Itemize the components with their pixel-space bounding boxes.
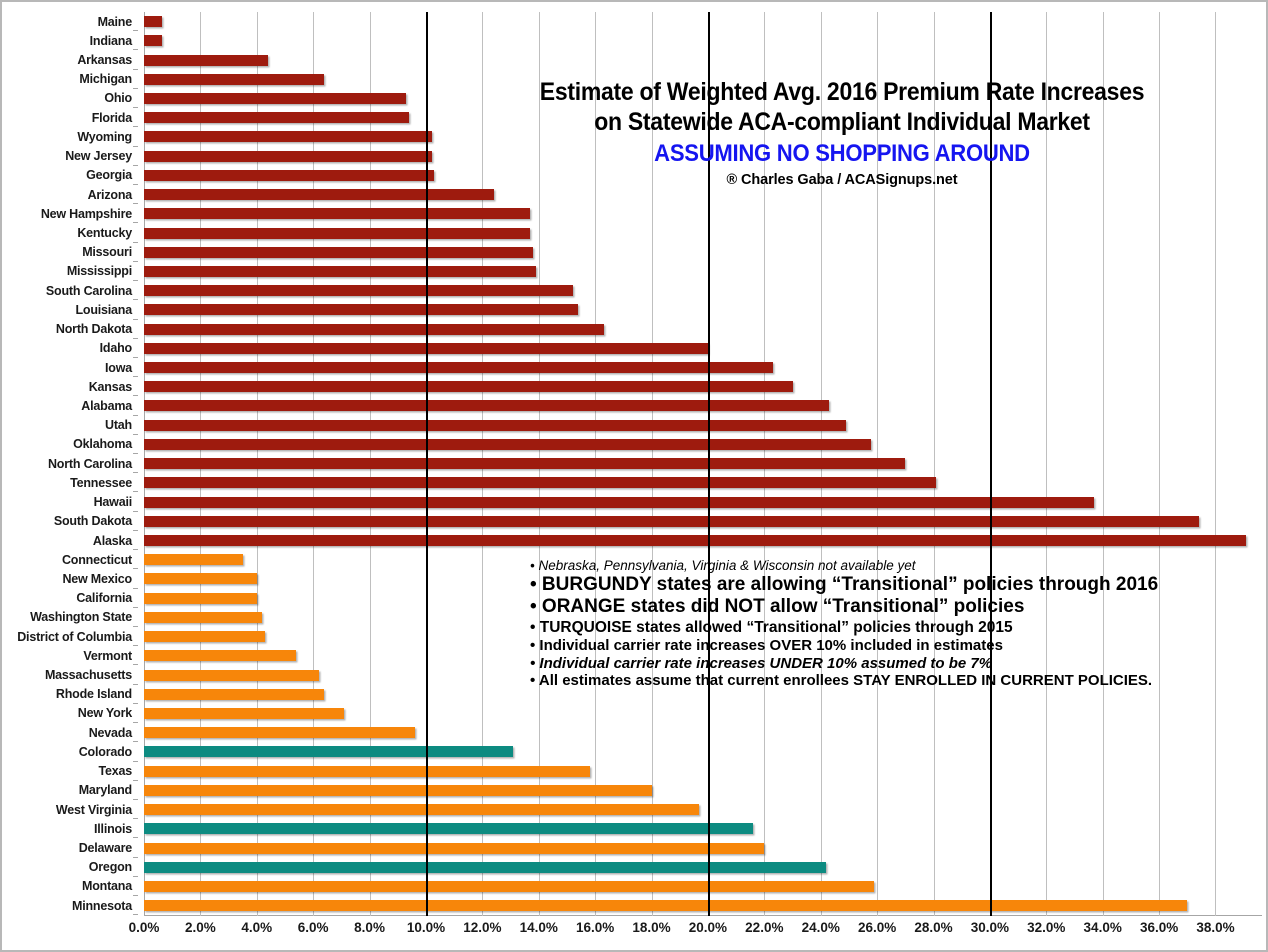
premium-rate-increase-chart: MaineIndianaArkansasMichiganOhioFloridaW… [0, 0, 1268, 952]
major-gridline [708, 12, 710, 916]
category-label: Idaho [2, 339, 138, 358]
category-label: Connecticut [2, 550, 138, 569]
bar-row [144, 665, 1262, 684]
bar-row [144, 800, 1262, 819]
category-label: Minnesota [2, 896, 138, 915]
bar-row [144, 358, 1262, 377]
bar [144, 420, 846, 431]
bar-row [144, 858, 1262, 877]
x-tick-label: 20.0% [689, 920, 727, 935]
bar [144, 785, 652, 796]
bar-row [144, 781, 1262, 800]
bar-row [144, 762, 1262, 781]
bar [144, 74, 324, 85]
bar [144, 247, 533, 258]
bar-row [144, 127, 1262, 146]
bar [144, 708, 344, 719]
category-label: Michigan [2, 70, 138, 89]
bar-row [144, 742, 1262, 761]
category-label: Rhode Island [2, 685, 138, 704]
category-label: Mississippi [2, 262, 138, 281]
x-tick-label: 28.0% [914, 920, 952, 935]
category-label: Montana [2, 877, 138, 896]
bar [144, 689, 324, 700]
bar-row [144, 320, 1262, 339]
bar [144, 266, 536, 277]
bar [144, 324, 604, 335]
bar-row [144, 685, 1262, 704]
bar-row [144, 723, 1262, 742]
x-tick-label: 22.0% [745, 920, 783, 935]
bar-row [144, 454, 1262, 473]
bar-row [144, 89, 1262, 108]
x-tick-label: 24.0% [802, 920, 840, 935]
bar-row [144, 396, 1262, 415]
bar-row [144, 281, 1262, 300]
category-label: District of Columbia [2, 627, 138, 646]
category-label: Maryland [2, 781, 138, 800]
y-axis-tick [133, 914, 138, 915]
bar-row [144, 435, 1262, 454]
bar-row [144, 50, 1262, 69]
bar-row [144, 223, 1262, 242]
x-tick-label: 18.0% [632, 920, 670, 935]
category-label: Maine [2, 12, 138, 31]
bar [144, 612, 262, 623]
bar-row [144, 339, 1262, 358]
x-tick-label: 32.0% [1027, 920, 1065, 935]
bar-row [144, 512, 1262, 531]
category-label: Kentucky [2, 223, 138, 242]
bar [144, 746, 513, 757]
bar-row [144, 204, 1262, 223]
bar [144, 93, 406, 104]
bar [144, 381, 793, 392]
x-tick-label: 16.0% [576, 920, 614, 935]
bar-row [144, 646, 1262, 665]
bar-row [144, 531, 1262, 550]
category-label: Arkansas [2, 50, 138, 69]
bar-row [144, 627, 1262, 646]
category-label: North Carolina [2, 454, 138, 473]
bar-row [144, 896, 1262, 915]
bar [144, 151, 432, 162]
bar [144, 573, 257, 584]
category-label: Kansas [2, 377, 138, 396]
bar [144, 362, 773, 373]
bar [144, 285, 573, 296]
category-label: New York [2, 704, 138, 723]
category-label: Florida [2, 108, 138, 127]
bar [144, 823, 753, 834]
bar [144, 535, 1246, 546]
major-gridline [426, 12, 428, 916]
x-tick-label: 38.0% [1196, 920, 1234, 935]
bar-row [144, 243, 1262, 262]
x-tick-label: 14.0% [520, 920, 558, 935]
x-tick-label: 10.0% [407, 920, 445, 935]
bar [144, 670, 319, 681]
bar [144, 400, 829, 411]
bar-row [144, 473, 1262, 492]
category-label: Wyoming [2, 127, 138, 146]
x-tick-label: 26.0% [858, 920, 896, 935]
category-label: Washington State [2, 608, 138, 627]
bar [144, 727, 415, 738]
bar-row [144, 12, 1262, 31]
category-label: Missouri [2, 243, 138, 262]
bar [144, 304, 578, 315]
category-label: Oregon [2, 858, 138, 877]
bar-row [144, 300, 1262, 319]
x-tick-label: 6.0% [298, 920, 329, 935]
x-tick-label: 2.0% [185, 920, 216, 935]
bar [144, 650, 296, 661]
bar [144, 881, 874, 892]
bar-row [144, 550, 1262, 569]
bar-row [144, 416, 1262, 435]
category-label: Vermont [2, 646, 138, 665]
bar-row [144, 569, 1262, 588]
bar-row [144, 877, 1262, 896]
bar-row [144, 70, 1262, 89]
bar [144, 55, 268, 66]
bar [144, 631, 265, 642]
bar-row [144, 704, 1262, 723]
x-tick-label: 36.0% [1140, 920, 1178, 935]
category-label: Delaware [2, 838, 138, 857]
bar [144, 35, 162, 46]
bar-row [144, 819, 1262, 838]
bar [144, 170, 434, 181]
plot-area [144, 12, 1262, 916]
category-label: New Hampshire [2, 204, 138, 223]
bar [144, 208, 530, 219]
bar [144, 189, 494, 200]
category-label: New Mexico [2, 569, 138, 588]
bar [144, 900, 1187, 911]
x-axis-tick-labels: 0.0%2.0%4.0%6.0%8.0%10.0%12.0%14.0%16.0%… [144, 920, 1262, 944]
category-label: Georgia [2, 166, 138, 185]
category-label: Ohio [2, 89, 138, 108]
y-axis-category-labels: MaineIndianaArkansasMichiganOhioFloridaW… [2, 12, 138, 916]
x-tick-label: 4.0% [241, 920, 272, 935]
x-tick-label: 8.0% [354, 920, 385, 935]
bar-row [144, 262, 1262, 281]
x-tick-label: 12.0% [463, 920, 501, 935]
category-label: Colorado [2, 742, 138, 761]
x-tick-label: 0.0% [129, 920, 160, 935]
category-label: North Dakota [2, 320, 138, 339]
category-label: Illinois [2, 819, 138, 838]
bar [144, 477, 936, 488]
bar [144, 228, 530, 239]
bar [144, 554, 243, 565]
bar-row [144, 147, 1262, 166]
category-label: South Dakota [2, 512, 138, 531]
bar [144, 843, 764, 854]
category-label: Tennessee [2, 473, 138, 492]
category-label: Iowa [2, 358, 138, 377]
bar [144, 439, 871, 450]
bar-row [144, 492, 1262, 511]
bar [144, 766, 590, 777]
bar-row [144, 377, 1262, 396]
category-label: South Carolina [2, 281, 138, 300]
x-tick-label: 34.0% [1084, 920, 1122, 935]
bar-row [144, 608, 1262, 627]
bar [144, 593, 257, 604]
bar [144, 516, 1199, 527]
bar [144, 131, 432, 142]
category-label: West Virginia [2, 800, 138, 819]
category-label: Utah [2, 416, 138, 435]
category-label: Texas [2, 762, 138, 781]
category-label: Indiana [2, 31, 138, 50]
bar-row [144, 166, 1262, 185]
major-gridline [990, 12, 992, 916]
bar [144, 862, 826, 873]
category-label: New Jersey [2, 147, 138, 166]
bar-row [144, 589, 1262, 608]
bar [144, 458, 905, 469]
bar [144, 804, 699, 815]
category-label: Arizona [2, 185, 138, 204]
bar-row [144, 185, 1262, 204]
bar-row [144, 838, 1262, 857]
category-label: California [2, 589, 138, 608]
category-label: Hawaii [2, 492, 138, 511]
category-label: Oklahoma [2, 435, 138, 454]
bar [144, 497, 1094, 508]
bar [144, 112, 409, 123]
category-label: Alaska [2, 531, 138, 550]
category-label: Massachusetts [2, 665, 138, 684]
bar-row [144, 108, 1262, 127]
category-label: Alabama [2, 396, 138, 415]
bar-row [144, 31, 1262, 50]
bar-series [144, 12, 1262, 916]
category-label: Louisiana [2, 300, 138, 319]
x-tick-label: 30.0% [971, 920, 1009, 935]
bar [144, 16, 162, 27]
category-label: Nevada [2, 723, 138, 742]
